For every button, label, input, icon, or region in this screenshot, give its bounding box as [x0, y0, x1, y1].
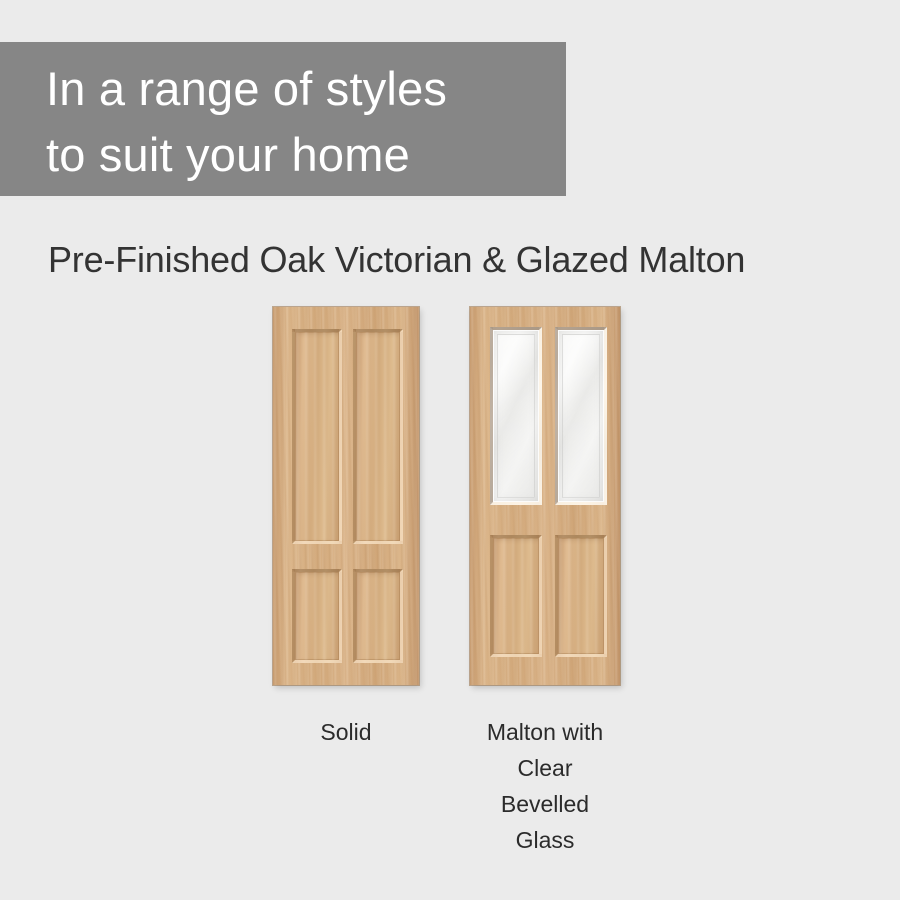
- panel-grain-texture: [295, 572, 339, 660]
- caption-glazed-line-3: Bevelled: [462, 786, 628, 822]
- glass-pane-right: [555, 327, 607, 505]
- product-subtitle: Pre-Finished Oak Victorian & Glazed Malt…: [48, 236, 858, 284]
- door-panel-bottom-left: [490, 535, 542, 657]
- caption-solid-line-1: Solid: [263, 714, 429, 750]
- door-panel-bottom-right: [555, 535, 607, 657]
- bevel-edge: [562, 334, 600, 498]
- caption-glazed: Malton with Clear Bevelled Glass: [462, 714, 628, 858]
- door-slab-solid: [273, 307, 419, 685]
- door-panel-bottom-right: [353, 569, 403, 663]
- panel-grain-texture: [493, 538, 539, 654]
- door-solid-victorian[interactable]: [273, 307, 419, 685]
- door-glazed-malton[interactable]: [470, 307, 620, 685]
- door-panel-bottom-left: [292, 569, 342, 663]
- caption-solid: Solid: [263, 714, 429, 750]
- panel-grain-texture: [295, 332, 339, 541]
- door-panel-top-left: [292, 329, 342, 544]
- headline-banner: In a range of styles to suit your home: [0, 42, 566, 196]
- headline-line-1: In a range of styles: [46, 56, 566, 122]
- panel-grain-texture: [356, 572, 400, 660]
- caption-glazed-line-1: Malton with: [462, 714, 628, 750]
- panel-grain-texture: [356, 332, 400, 541]
- door-showcase: [0, 307, 900, 687]
- door-panel-top-right: [353, 329, 403, 544]
- bevel-edge: [497, 334, 535, 498]
- door-slab-glazed: [470, 307, 620, 685]
- panel-grain-texture: [558, 538, 604, 654]
- headline-line-2: to suit your home: [46, 122, 566, 188]
- caption-glazed-line-4: Glass: [462, 822, 628, 858]
- glass-pane-left: [490, 327, 542, 505]
- caption-glazed-line-2: Clear: [462, 750, 628, 786]
